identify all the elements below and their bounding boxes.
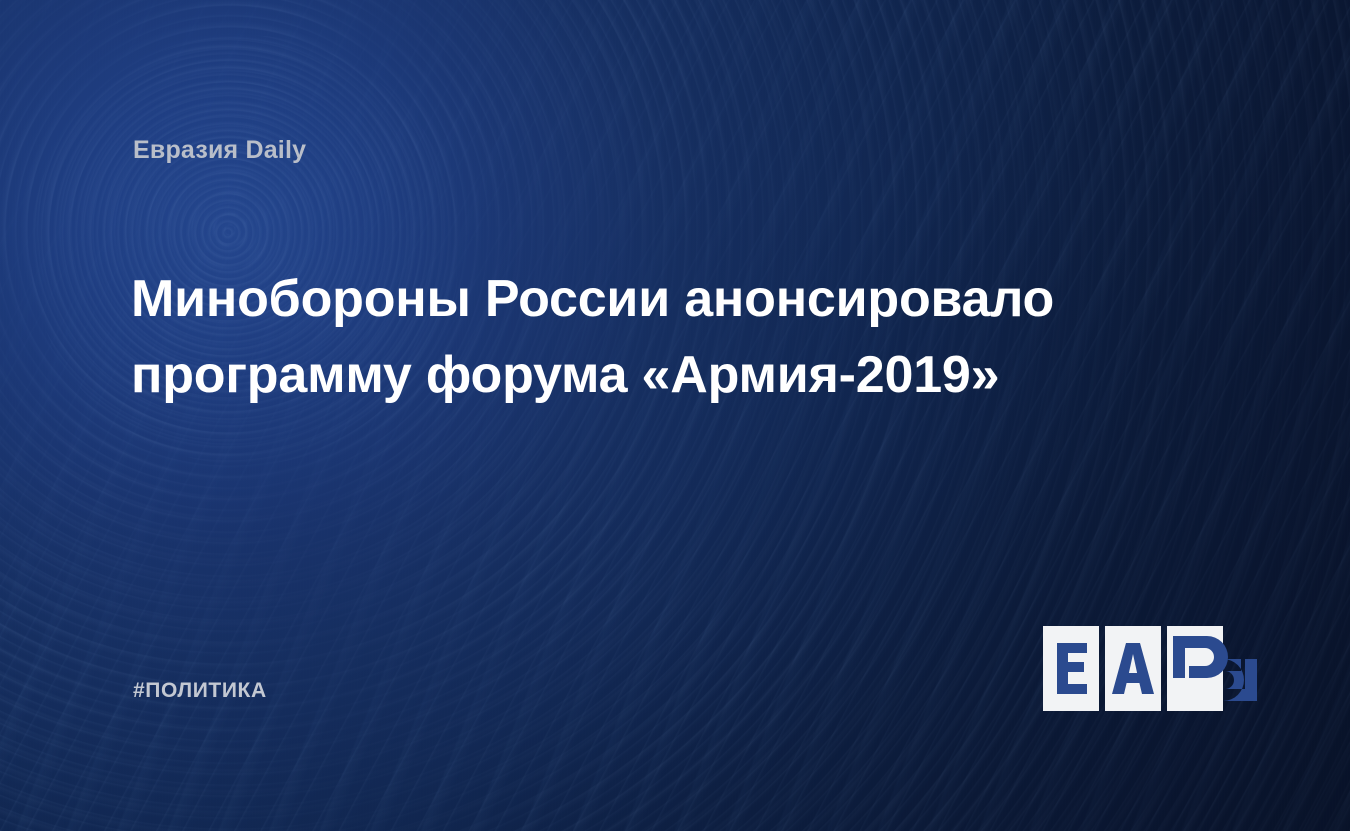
logo-letter-a-icon (1105, 626, 1161, 711)
logo-tile-a (1105, 626, 1161, 711)
headline-line-2: программу форума «Армия-2019» (131, 338, 1131, 414)
logo-tile-e (1043, 626, 1099, 711)
eadaily-logo[interactable] (1043, 626, 1223, 711)
headline-line-1: Минобороны России анонсировало (131, 262, 1131, 338)
brand-wordmark: Евразия Daily (133, 136, 306, 165)
headline: Минобороны России анонсировало программу… (131, 262, 1131, 414)
category-hashtag[interactable]: #ПОЛИТИКА (133, 679, 267, 703)
logo-letter-d-icon (1167, 626, 1263, 711)
news-cover-card: Евразия Daily Минобороны России анонсиро… (0, 0, 1350, 831)
card-content: Евразия Daily Минобороны России анонсиро… (0, 0, 1350, 831)
logo-letter-e-icon (1043, 626, 1099, 711)
